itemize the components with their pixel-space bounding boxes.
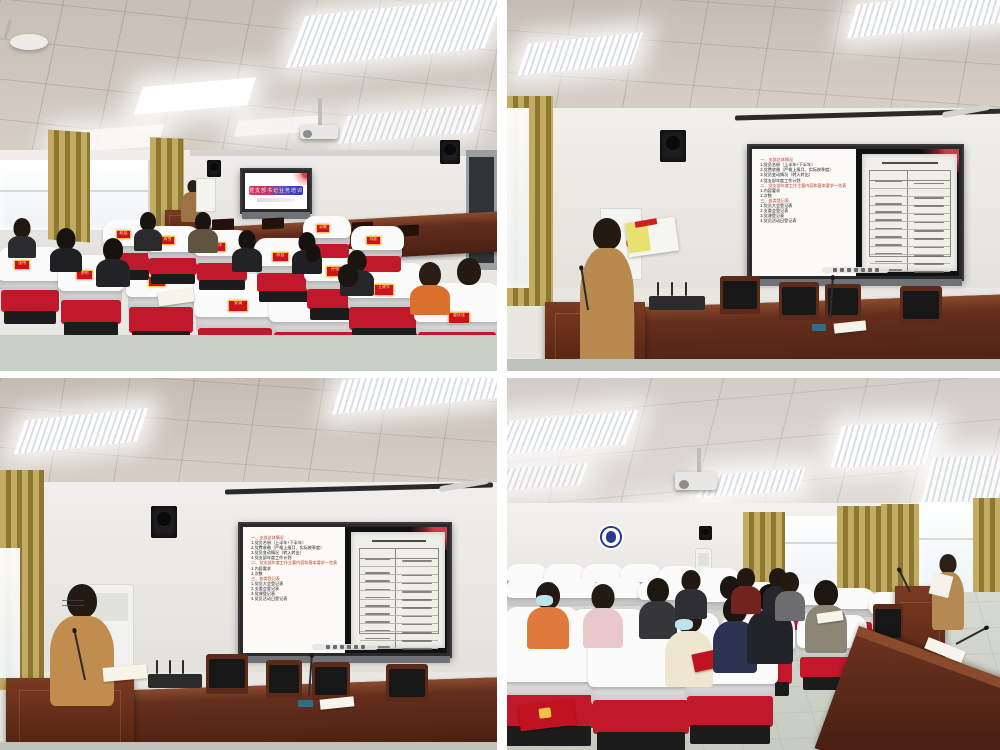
flipchart xyxy=(196,178,216,212)
chair xyxy=(900,286,942,324)
attendee-body xyxy=(232,248,262,272)
attendee-body xyxy=(134,229,162,251)
slide-banner: 党支部书记业务培训 xyxy=(249,186,304,195)
ceiling-mount-light xyxy=(10,34,48,50)
slide-text-column: 一、支部总体情况 1.党员名册（上半年+下半年） 2.党费收缴（严格上报月、实际… xyxy=(752,149,856,276)
toolbar-icon[interactable] xyxy=(854,268,858,272)
toolbar-icon[interactable] xyxy=(354,645,358,649)
photo-top-right: 一、支部总体情况 1.党员名册（上半年+下半年） 2.党费收缴（严格上报月、实际… xyxy=(507,0,1000,371)
curtain xyxy=(48,130,90,243)
presenter-glasses xyxy=(62,600,84,606)
toolbar-icon[interactable] xyxy=(333,645,337,649)
wall-speaker xyxy=(440,140,460,164)
desk-monitor xyxy=(262,217,284,229)
table-header-row xyxy=(870,171,950,180)
display-screen: 一、支部总体情况 1.党员名册（上半年+下半年） 2.党费收缴（严格上报月、实际… xyxy=(752,149,959,276)
table xyxy=(869,170,951,256)
display-screen: 一、支部总体情况 1.党员名册（上半年+下半年） 2.党费收缴（严格上报月、实际… xyxy=(243,527,447,653)
ceiling-light xyxy=(830,422,938,467)
photo-collage: 党支部书记业务培训 张伟 xyxy=(0,0,1000,750)
chair xyxy=(206,654,248,694)
lecturer-head xyxy=(940,554,957,574)
display-board[interactable]: 一、支部总体情况 1.党员名册（上半年+下半年） 2.党费收缴（严格上报月、实际… xyxy=(238,522,452,658)
chair xyxy=(779,282,819,320)
slide-subtitle-bar xyxy=(257,198,294,202)
window-frame xyxy=(919,538,981,540)
photo-bottom-right xyxy=(507,378,1000,750)
toolbar-icon[interactable] xyxy=(875,268,879,272)
table-row xyxy=(360,608,439,616)
slide-heading: 二、党支部年度工作主要内容和基本要求一览表 xyxy=(251,560,341,565)
attendee-body xyxy=(50,248,82,272)
seat-nametag: 郑凯 xyxy=(366,236,381,245)
photo-bottom-left: 一、支部总体情况 1.党员名册（上半年+下半年） 2.党费收缴（严格上报月、实际… xyxy=(0,378,497,750)
attendee-body xyxy=(775,591,805,621)
wall-speaker xyxy=(207,160,221,177)
emblem-core xyxy=(606,531,617,542)
display-board[interactable]: 一、支部总体情况 1.党员名册（上半年+下半年） 2.党费收缴（严格上报月、实际… xyxy=(747,144,964,281)
chair xyxy=(720,276,760,314)
attendee-head xyxy=(239,230,256,250)
floor xyxy=(507,359,1000,371)
display-screen: 党支部书记业务培训 xyxy=(245,173,307,209)
board-toolbar[interactable] xyxy=(312,644,377,650)
photo-top-left: 党支部书记业务培训 张伟 xyxy=(0,0,497,371)
attendee xyxy=(96,238,130,280)
university-emblem xyxy=(600,526,622,548)
seat-nametag: 安澜 xyxy=(228,300,248,312)
display-board[interactable]: 党支部书记业务培训 xyxy=(240,168,312,214)
floor xyxy=(0,742,497,750)
booklet-emblem xyxy=(538,707,551,718)
attendee-head xyxy=(647,578,669,603)
toolbar-icon[interactable] xyxy=(861,268,865,272)
slide-heading: 二、党支部年度工作主要内容和基本要求一览表 xyxy=(760,183,851,188)
toolbar-icon[interactable] xyxy=(361,645,365,649)
attendee-head xyxy=(306,244,321,262)
table xyxy=(359,548,440,634)
attendee xyxy=(8,218,36,252)
toolbar-icon[interactable] xyxy=(340,645,344,649)
seat-nametag: 陈蓉 xyxy=(272,252,289,262)
table-caption xyxy=(359,540,440,543)
face-mask xyxy=(675,619,693,630)
table-header-cell xyxy=(396,549,438,557)
projector-lens xyxy=(679,480,689,489)
slide-content: 一、支部总体情况 1.党员名册（上半年+下半年） 2.党费收缴（严格上报月、实际… xyxy=(243,527,447,653)
conference-table xyxy=(110,677,497,750)
chair xyxy=(312,662,350,700)
table-caption xyxy=(869,162,951,165)
attendee-head xyxy=(814,580,838,607)
attendee-body xyxy=(8,236,36,258)
slide-text-column: 一、支部总体情况 1.党员名册（上半年+下半年） 2.党费收缴（严格上报月、实际… xyxy=(243,527,345,653)
slide-content: 一、支部总体情况 1.党员名册（上半年+下半年） 2.党费收缴（严格上报月、实际… xyxy=(752,149,959,276)
seat-nametag: 王建华 xyxy=(374,284,394,296)
attendee xyxy=(410,262,450,310)
attendee-head xyxy=(57,228,76,250)
attendee-body xyxy=(675,589,707,619)
chair xyxy=(386,664,428,702)
projector-arm xyxy=(697,448,701,474)
attendee-body xyxy=(731,586,761,614)
slide-table-photo xyxy=(862,154,957,271)
slide-table-photo xyxy=(351,532,445,648)
presenter-head xyxy=(593,218,621,250)
attendee-head xyxy=(338,264,358,287)
attendee xyxy=(583,584,623,642)
table-header-cell xyxy=(908,171,951,179)
attendee xyxy=(775,572,805,616)
slide-item: 4.党员活动日登记表 xyxy=(251,596,341,601)
slide-image-column xyxy=(856,149,960,276)
toolbar-icon[interactable] xyxy=(840,268,844,272)
chair xyxy=(266,660,302,698)
table-row xyxy=(360,567,439,575)
nameplate xyxy=(298,700,313,707)
attendee-head xyxy=(419,262,441,287)
slide-image-column xyxy=(345,527,447,653)
window xyxy=(507,108,529,288)
toolbar-icon[interactable] xyxy=(347,645,351,649)
slide-title: 党支部书记业务培训 xyxy=(245,173,307,209)
seat-nametag: 重庆连 xyxy=(448,312,470,324)
window-frame xyxy=(785,542,845,544)
nameplate xyxy=(812,324,826,331)
attendee xyxy=(188,212,218,248)
wall-speaker xyxy=(699,526,712,540)
board-toolbar[interactable] xyxy=(822,267,888,273)
attendee-head xyxy=(737,568,755,588)
ceiling-light xyxy=(921,455,1000,504)
slide-decor-corner xyxy=(286,173,307,185)
table-header-cell xyxy=(360,549,397,557)
floor xyxy=(0,335,497,371)
attendee-body xyxy=(410,285,450,315)
face-mask xyxy=(536,595,553,606)
attendee-body xyxy=(96,259,130,287)
window xyxy=(0,548,20,678)
open-notes xyxy=(102,664,147,682)
table-header-cell xyxy=(870,171,907,179)
attendee xyxy=(330,264,366,306)
projector-lens xyxy=(303,130,312,138)
attendee-body xyxy=(527,607,569,649)
toolbar-icon[interactable] xyxy=(847,268,851,272)
attendee-head xyxy=(103,238,123,261)
projector-arm xyxy=(318,98,322,128)
attendee-head xyxy=(592,584,615,610)
wifi-router xyxy=(649,296,705,310)
toolbar-icon[interactable] xyxy=(326,645,330,649)
attendee xyxy=(448,258,490,308)
toolbar-icon[interactable] xyxy=(833,268,837,272)
wall-speaker xyxy=(151,506,177,538)
table-header-row xyxy=(360,549,439,558)
wifi-router xyxy=(148,674,202,688)
attendee xyxy=(50,228,82,266)
wall-speaker xyxy=(660,130,686,162)
attendee-head xyxy=(14,218,31,238)
attendee xyxy=(134,212,162,246)
attendee-head xyxy=(682,570,701,591)
attendee xyxy=(527,582,569,642)
attendee-head xyxy=(781,572,799,593)
slide-item: 4.党员活动日登记表 xyxy=(760,218,851,223)
attendee-body xyxy=(583,608,623,648)
attendee-head xyxy=(457,258,481,285)
slide-banner-text: 党支部书记业务培训 xyxy=(249,186,304,195)
toolbar-icon[interactable] xyxy=(868,268,872,272)
attendee-body xyxy=(188,229,218,253)
attendee xyxy=(675,570,707,614)
attendee xyxy=(731,568,761,610)
attendee xyxy=(300,244,326,276)
seat-nametag: 周雪 xyxy=(160,236,175,245)
attendee xyxy=(232,230,262,266)
seat-nametag: 张伟 xyxy=(14,260,30,270)
